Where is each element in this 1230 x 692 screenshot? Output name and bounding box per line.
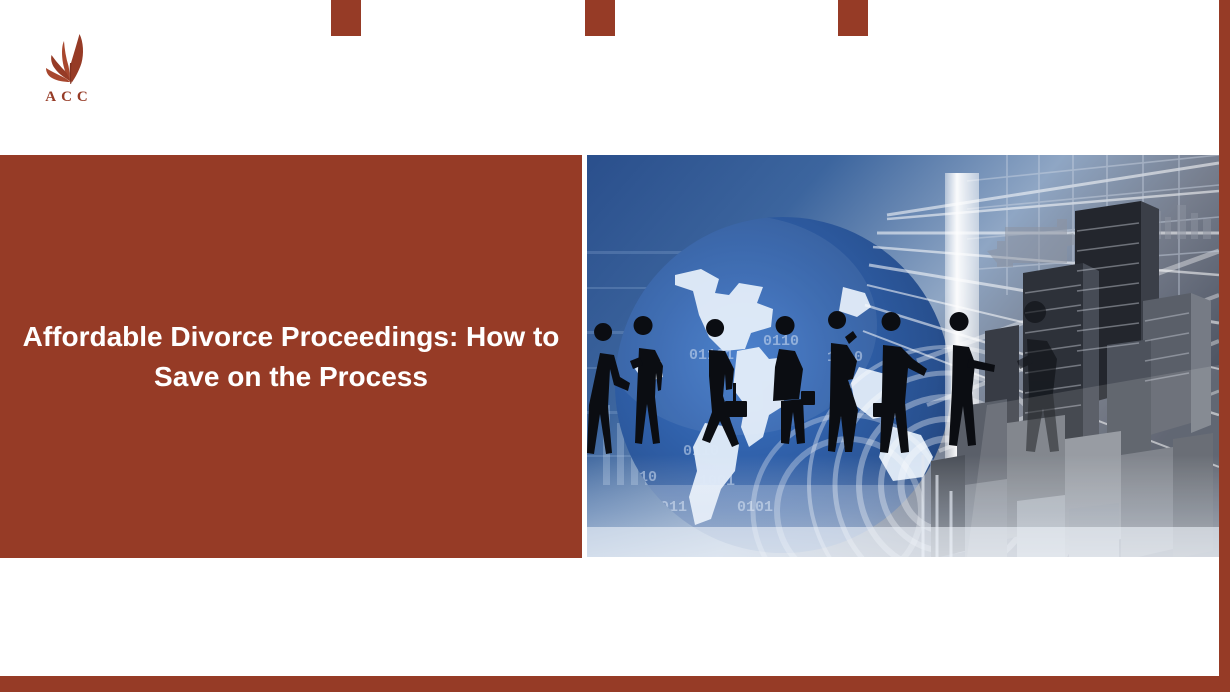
top-square-3 <box>838 0 868 36</box>
top-square-1 <box>331 0 361 36</box>
title-panel: Affordable Divorce Proceedings: How to S… <box>0 155 582 558</box>
logo-wordmark: ACC <box>38 89 100 106</box>
acc-logo: ACC <box>38 33 100 113</box>
hero-image: 01101 0110 1010 0110 1001 0011 0101 1010 <box>587 155 1219 557</box>
slide-canvas: ACC Affordable Divorce Proceedings: How … <box>0 0 1230 692</box>
bottom-accent-bar <box>0 676 1219 692</box>
hero-image-graphic: 01101 0110 1010 0110 1001 0011 0101 1010 <box>587 155 1219 557</box>
top-square-2 <box>585 0 615 36</box>
slide-title: Affordable Divorce Proceedings: How to S… <box>6 317 576 397</box>
right-accent-border <box>1219 0 1230 692</box>
flame-icon <box>44 33 96 88</box>
